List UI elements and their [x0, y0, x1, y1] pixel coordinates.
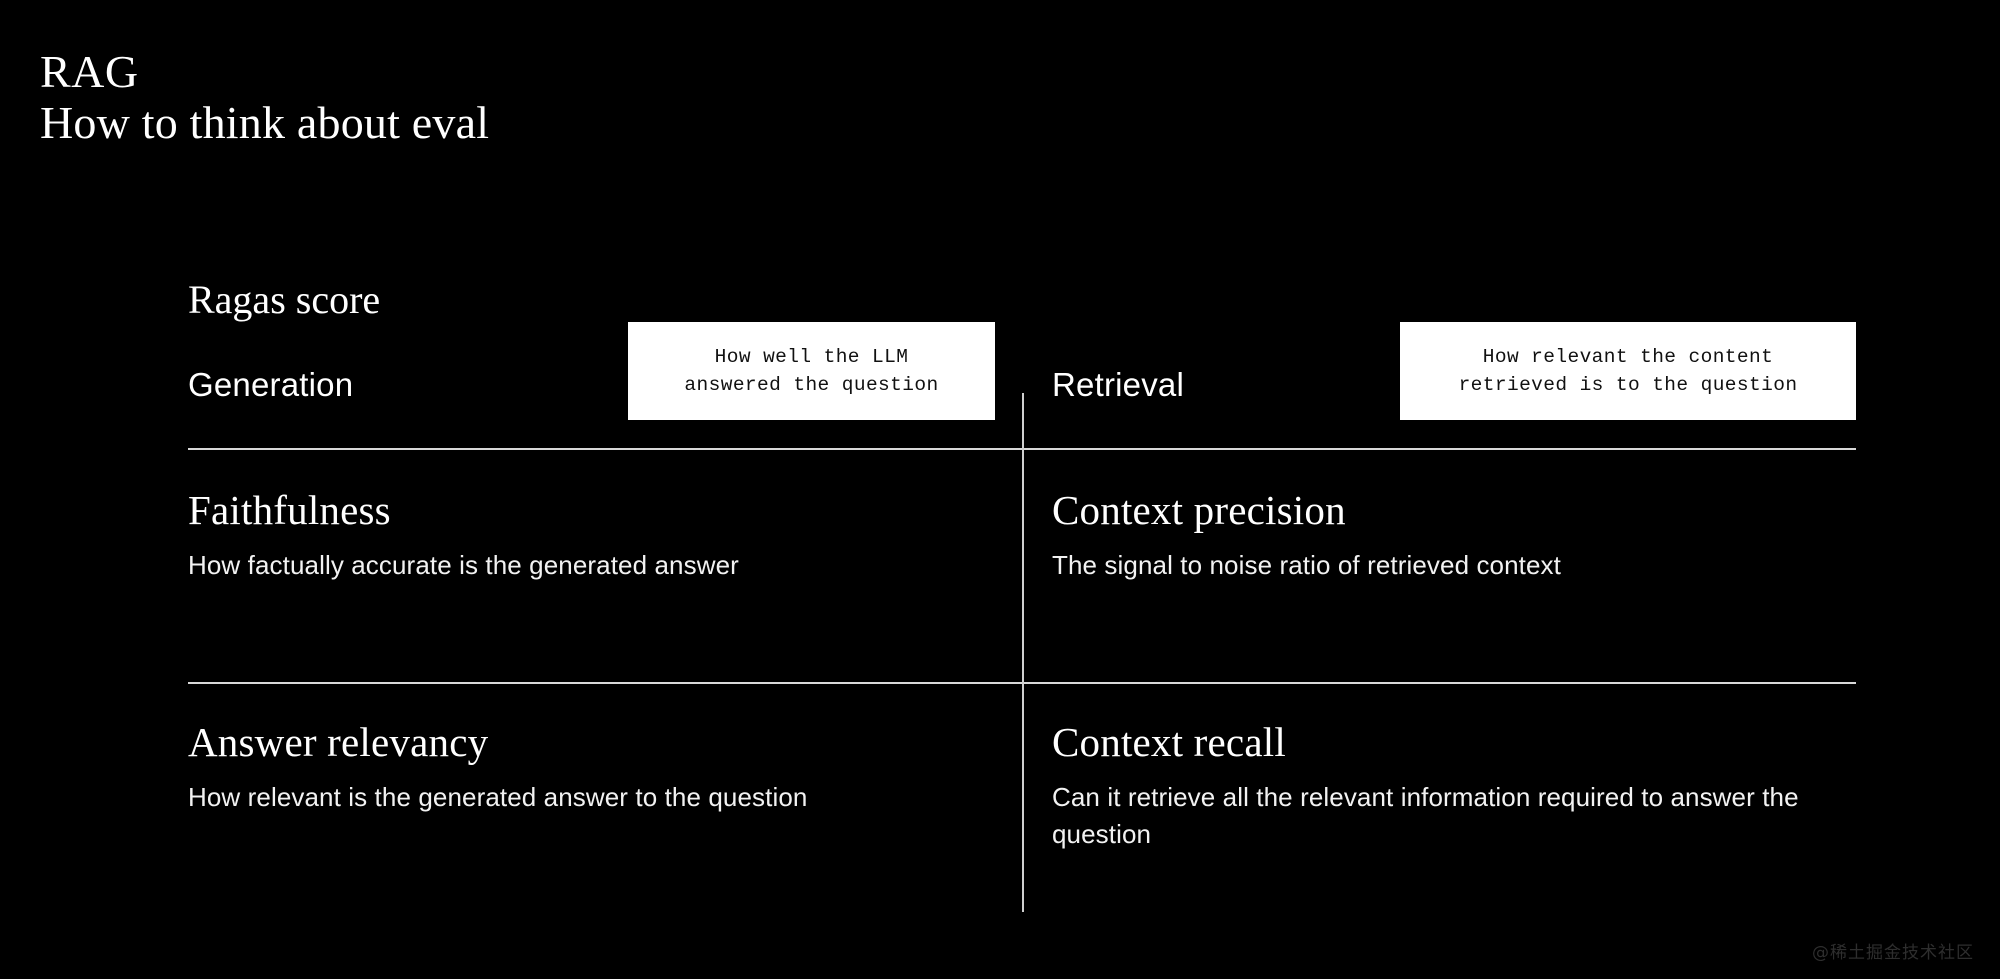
- callout-retrieval: How relevant the content retrieved is to…: [1400, 322, 1856, 420]
- callout-retrieval-line1: How relevant the content: [1459, 343, 1798, 371]
- metric-title: Context recall: [1052, 720, 1832, 765]
- watermark: @稀土掘金技术社区: [1812, 938, 1974, 963]
- slide-header: RAG How to think about eval: [40, 48, 489, 151]
- page-title: RAG: [40, 48, 489, 96]
- metric-title: Context precision: [1052, 488, 1832, 533]
- ragas-score-matrix: Ragas score Generation Retrieval How wel…: [188, 280, 1856, 920]
- metric-description: The signal to noise ratio of retrieved c…: [1052, 547, 1822, 584]
- divider-column-rule: [1022, 393, 1024, 912]
- callout-generation-line2: answered the question: [684, 371, 938, 399]
- column-header-generation: Generation: [188, 368, 353, 401]
- metric-description: How relevant is the generated answer to …: [188, 779, 958, 816]
- metric-cell-answer-relevancy: Answer relevancy How relevant is the gen…: [188, 720, 968, 816]
- column-header-retrieval: Retrieval: [1052, 368, 1184, 401]
- metric-description: How factually accurate is the generated …: [188, 547, 958, 584]
- page-subtitle: How to think about eval: [40, 96, 489, 150]
- metric-description: Can it retrieve all the relevant informa…: [1052, 779, 1822, 853]
- metric-title: Faithfulness: [188, 488, 968, 533]
- metric-cell-context-recall: Context recall Can it retrieve all the r…: [1052, 720, 1832, 853]
- metric-cell-faithfulness: Faithfulness How factually accurate is t…: [188, 488, 968, 584]
- matrix-caption: Ragas score: [188, 280, 380, 320]
- metric-title: Answer relevancy: [188, 720, 968, 765]
- callout-generation: How well the LLM answered the question: [628, 322, 995, 420]
- callout-generation-line1: How well the LLM: [684, 343, 938, 371]
- callout-retrieval-line2: retrieved is to the question: [1459, 371, 1798, 399]
- metric-cell-context-precision: Context precision The signal to noise ra…: [1052, 488, 1832, 584]
